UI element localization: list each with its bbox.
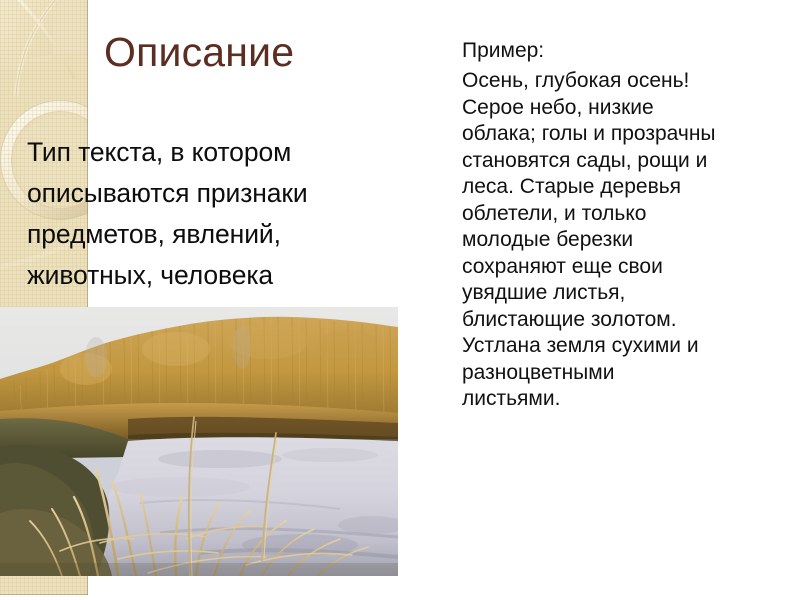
landscape-photo — [0, 307, 398, 576]
example-line: становятся сады, рощи и — [462, 148, 798, 175]
example-line: Осень, глубокая осень! — [462, 68, 798, 95]
example-line: леса. Старые деревья — [462, 174, 798, 201]
example-heading: Пример: — [462, 36, 798, 66]
example-text-column: Пример: Осень, глубокая осень! Серое неб… — [462, 36, 798, 413]
example-line: листьями. — [462, 386, 798, 413]
example-line: молодые березки — [462, 227, 798, 254]
example-line: блистающие золотом. — [462, 307, 798, 334]
photo-artwork — [0, 307, 398, 576]
example-line: разноцветными — [462, 360, 798, 387]
example-line: облетели, и только — [462, 201, 798, 228]
body-left-line: животных, человека — [27, 255, 432, 296]
body-left-line: предметов, явлений, — [27, 214, 432, 255]
body-left-line: описываются признаки — [27, 173, 432, 214]
body-left-line: Тип текста, в котором — [27, 132, 432, 173]
example-body: Осень, глубокая осень! Серое небо, низки… — [462, 68, 798, 413]
example-line: облака; голы и прозрачны — [462, 121, 798, 148]
page-title: Описание — [104, 30, 434, 75]
body-text-left: Тип текста, в котором описываются призна… — [27, 132, 432, 296]
example-line: увядшие листья, — [462, 280, 798, 307]
example-line: Устлана земля сухими и — [462, 333, 798, 360]
band-bottom-edge — [0, 594, 88, 595]
example-line: Серое небо, низкие — [462, 95, 798, 122]
example-line: сохраняют еще свои — [462, 254, 798, 281]
slide: Описание Тип текста, в котором описывают… — [0, 0, 800, 600]
